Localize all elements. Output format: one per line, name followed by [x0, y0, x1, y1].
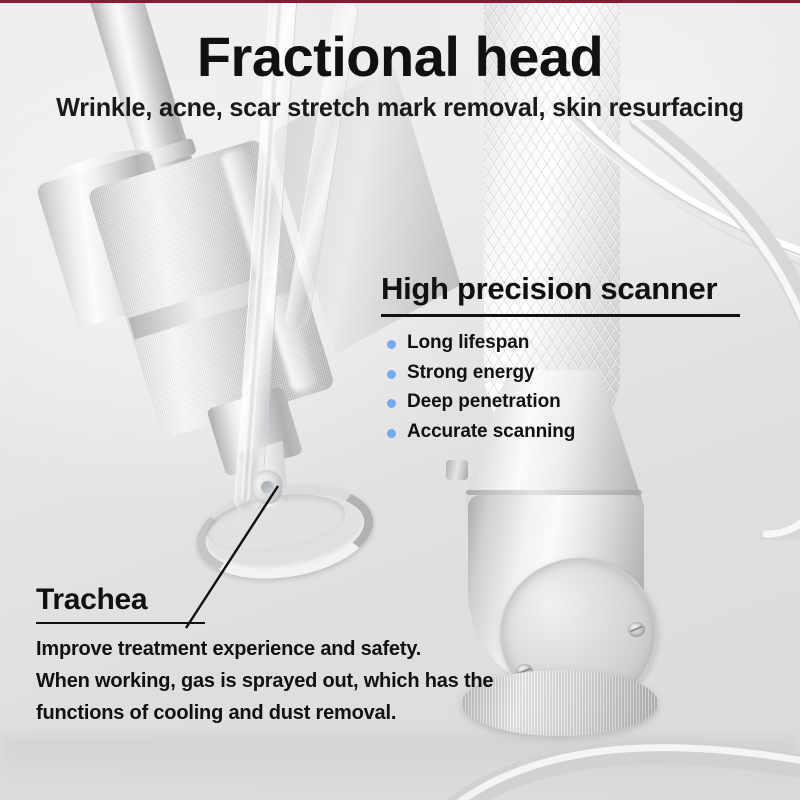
list-item: Accurate scanning	[381, 422, 751, 443]
top-accent-bar	[0, 0, 800, 3]
trachea-line: When working, gas is sprayed out, which …	[36, 665, 506, 697]
page-title: Fractional head	[0, 28, 800, 87]
scanner-feature-list: Long lifespan Strong energy Deep penetra…	[381, 333, 751, 442]
feature-label: Long lifespan	[407, 332, 529, 353]
product-banner: Fractional head Wrinkle, acne, scar stre…	[0, 0, 800, 800]
bullet-dot-icon	[387, 399, 396, 408]
list-item: Long lifespan	[381, 333, 751, 354]
page-subtitle: Wrinkle, acne, scar stretch mark removal…	[12, 92, 788, 123]
scanner-heading-rule	[381, 314, 740, 317]
trachea-description: Improve treatment experience and safety.…	[36, 633, 506, 730]
trachea-heading: Trachea	[36, 584, 506, 616]
trachea-callout-block: Trachea Improve treatment experience and…	[36, 584, 506, 730]
trachea-line: Improve treatment experience and safety.	[36, 633, 506, 665]
bullet-dot-icon	[387, 370, 396, 379]
list-item: Deep penetration	[381, 392, 751, 413]
list-item: Strong energy	[381, 363, 751, 384]
text-layer: Fractional head Wrinkle, acne, scar stre…	[0, 0, 800, 800]
bullet-dot-icon	[387, 340, 396, 349]
scanner-heading: High precision scanner	[381, 272, 751, 306]
feature-label: Deep penetration	[407, 391, 561, 412]
trachea-heading-rule	[36, 622, 205, 624]
bullet-dot-icon	[387, 429, 396, 438]
feature-label: Accurate scanning	[407, 421, 575, 442]
trachea-line: functions of cooling and dust removal.	[36, 697, 506, 729]
scanner-feature-block: High precision scanner Long lifespan Str…	[381, 272, 751, 451]
feature-label: Strong energy	[407, 362, 535, 383]
